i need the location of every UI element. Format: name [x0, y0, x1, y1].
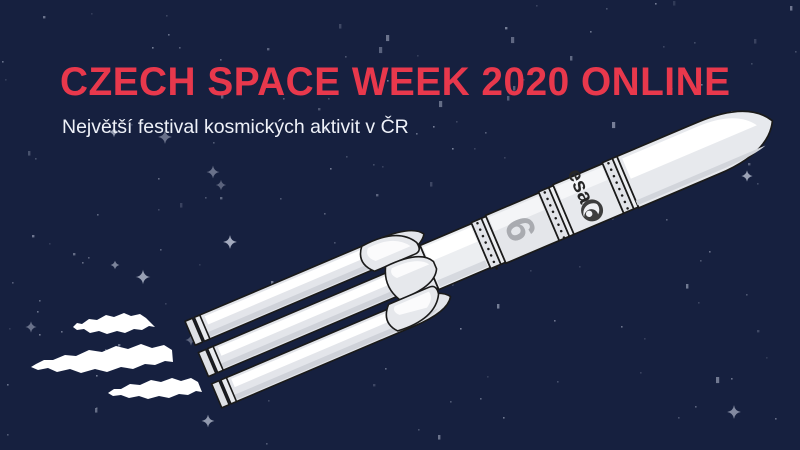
page-subtitle: Největší festival kosmických aktivit v Č…: [62, 114, 751, 140]
poster-canvas: 6 esa: [0, 0, 800, 450]
exhaust-plume-top: [73, 313, 155, 334]
exhaust-plumes: [31, 313, 202, 399]
exhaust-plume-bottom: [108, 378, 202, 399]
page-title: CZECH SPACE WEEK 2020 ONLINE: [60, 60, 730, 104]
exhaust-plume-middle: [31, 344, 173, 373]
headline-block: CZECH SPACE WEEK 2020 ONLINE Největší fe…: [60, 60, 751, 140]
